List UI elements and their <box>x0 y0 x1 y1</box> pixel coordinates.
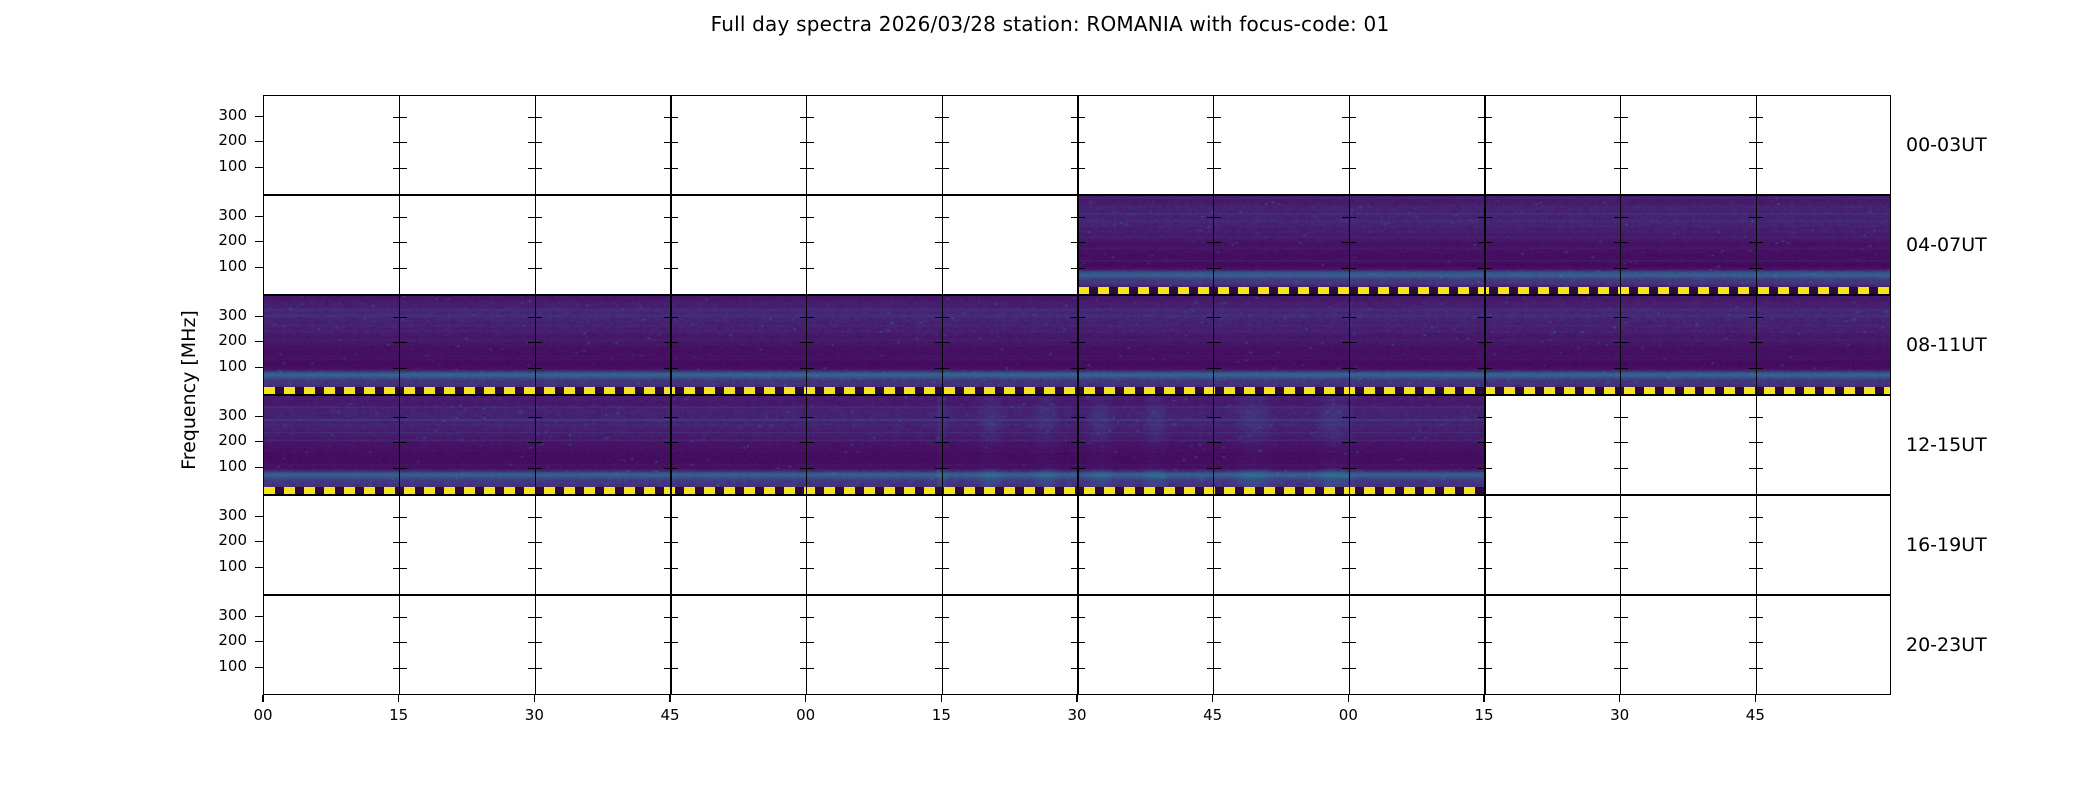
y-minor-tick <box>664 117 671 119</box>
y-minor-tick <box>528 268 535 270</box>
y-axis-tick <box>255 241 263 243</box>
x-axis-tick-label: 15 <box>921 706 961 724</box>
y-minor-tick <box>942 317 949 319</box>
x-axis-tick <box>1619 695 1621 702</box>
panel-separator <box>670 96 672 194</box>
y-axis-tick <box>255 267 263 269</box>
y-minor-tick <box>528 417 535 419</box>
y-minor-tick <box>393 642 400 644</box>
y-minor-tick <box>1078 368 1085 370</box>
y-minor-tick <box>1342 517 1349 519</box>
y-minor-tick <box>528 317 535 319</box>
y-minor-tick <box>1071 442 1078 444</box>
y-minor-tick <box>807 117 814 119</box>
y-minor-tick <box>393 117 400 119</box>
y-minor-tick <box>1071 342 1078 344</box>
y-minor-tick <box>1207 568 1214 570</box>
y-minor-tick <box>1485 668 1492 670</box>
y-minor-tick <box>1756 117 1763 119</box>
y-minor-tick <box>1756 417 1763 419</box>
y-minor-tick <box>1749 642 1756 644</box>
y-axis-tick <box>255 141 263 143</box>
y-minor-tick <box>1349 242 1356 244</box>
spectrogram-row-00-03ut[interactable] <box>263 95 1891 195</box>
panel-separator <box>942 96 944 194</box>
y-minor-tick <box>1342 217 1349 219</box>
y-minor-tick <box>528 668 535 670</box>
y-axis-tick-label: 100 <box>187 559 247 574</box>
row-plot-area <box>264 396 1890 494</box>
y-minor-tick <box>671 342 678 344</box>
y-minor-tick <box>1485 342 1492 344</box>
y-axis-tick <box>255 467 263 469</box>
y-minor-tick <box>1621 242 1628 244</box>
panel-separator <box>1756 496 1758 594</box>
y-minor-tick <box>1478 468 1485 470</box>
y-minor-tick <box>935 242 942 244</box>
panel-separator <box>1756 396 1758 494</box>
y-minor-tick <box>1621 342 1628 344</box>
row-plot-area <box>264 96 1890 194</box>
y-minor-tick <box>942 417 949 419</box>
y-minor-tick <box>1614 117 1621 119</box>
y-minor-tick <box>1621 368 1628 370</box>
panel-separator <box>535 96 537 194</box>
panel-separator <box>1756 196 1758 294</box>
y-minor-tick <box>1342 268 1349 270</box>
y-axis-tick-label: 100 <box>187 359 247 374</box>
spectrogram-row-12-15ut[interactable] <box>263 395 1891 495</box>
y-minor-tick <box>935 142 942 144</box>
y-minor-tick <box>393 617 400 619</box>
y-minor-tick <box>1214 542 1221 544</box>
y-minor-tick <box>671 117 678 119</box>
panel-separator <box>535 596 537 694</box>
y-minor-tick <box>1478 342 1485 344</box>
y-minor-tick <box>393 317 400 319</box>
y-minor-tick <box>800 642 807 644</box>
y-minor-tick <box>1078 568 1085 570</box>
y-minor-tick <box>1342 542 1349 544</box>
y-minor-tick <box>393 368 400 370</box>
panel-separator <box>1620 596 1622 694</box>
y-minor-tick <box>1756 368 1763 370</box>
y-minor-tick <box>935 617 942 619</box>
y-minor-tick <box>1749 117 1756 119</box>
y-minor-tick <box>528 368 535 370</box>
y-minor-tick <box>1071 617 1078 619</box>
y-minor-tick <box>1756 468 1763 470</box>
spectrogram-row-04-07ut[interactable] <box>263 195 1891 295</box>
y-minor-tick <box>935 442 942 444</box>
y-minor-tick <box>942 368 949 370</box>
y-minor-tick <box>1071 317 1078 319</box>
y-minor-tick <box>1342 368 1349 370</box>
x-axis-tick <box>1212 695 1214 702</box>
y-minor-tick <box>1214 242 1221 244</box>
y-minor-tick <box>807 642 814 644</box>
y-minor-tick <box>1207 668 1214 670</box>
y-minor-tick <box>800 242 807 244</box>
y-minor-tick <box>1078 668 1085 670</box>
panel-separator <box>399 296 401 394</box>
y-minor-tick <box>1214 368 1221 370</box>
y-minor-tick <box>1749 242 1756 244</box>
row-plot-area <box>264 596 1890 694</box>
panel-separator <box>399 96 401 194</box>
spectrogram-row-08-11ut[interactable] <box>263 295 1891 395</box>
y-minor-tick <box>664 617 671 619</box>
y-axis-tick-label: 200 <box>187 633 247 648</box>
y-minor-tick <box>393 417 400 419</box>
y-minor-tick <box>1749 668 1756 670</box>
x-axis-tick-label: 00 <box>243 706 283 724</box>
y-minor-tick <box>1749 268 1756 270</box>
y-minor-tick <box>1478 442 1485 444</box>
y-minor-tick <box>1342 342 1349 344</box>
y-minor-tick <box>535 417 542 419</box>
y-minor-tick <box>1485 317 1492 319</box>
y-minor-tick <box>1749 217 1756 219</box>
y-minor-tick <box>1078 268 1085 270</box>
y-minor-tick <box>807 342 814 344</box>
y-minor-tick <box>400 568 407 570</box>
y-minor-tick <box>942 217 949 219</box>
y-minor-tick <box>664 442 671 444</box>
y-minor-tick <box>1621 568 1628 570</box>
y-minor-tick <box>942 542 949 544</box>
x-axis-tick <box>398 695 400 702</box>
y-minor-tick <box>400 317 407 319</box>
y-minor-tick <box>664 568 671 570</box>
y-minor-tick <box>1349 368 1356 370</box>
y-minor-tick <box>942 668 949 670</box>
y-minor-tick <box>1749 368 1756 370</box>
y-minor-tick <box>800 142 807 144</box>
y-minor-tick <box>1078 168 1085 170</box>
y-minor-tick <box>1749 168 1756 170</box>
y-minor-tick <box>935 668 942 670</box>
y-minor-tick <box>528 568 535 570</box>
panel-separator <box>1349 596 1351 694</box>
panel-separator <box>399 496 401 594</box>
row-time-label: 12-15UT <box>1906 434 1987 456</box>
y-minor-tick <box>807 142 814 144</box>
panel-separator <box>1077 396 1079 494</box>
y-minor-tick <box>393 268 400 270</box>
y-minor-tick <box>1485 242 1492 244</box>
y-minor-tick <box>1207 517 1214 519</box>
spectrogram-row-20-23ut[interactable] <box>263 595 1891 695</box>
y-minor-tick <box>1478 168 1485 170</box>
panel-separator <box>1484 596 1486 694</box>
y-minor-tick <box>1214 517 1221 519</box>
y-minor-tick <box>1349 642 1356 644</box>
y-minor-tick <box>393 468 400 470</box>
panel-separator <box>1077 296 1079 394</box>
y-minor-tick <box>1756 168 1763 170</box>
y-minor-tick <box>400 268 407 270</box>
x-axis-tick <box>669 695 671 702</box>
y-minor-tick <box>1342 142 1349 144</box>
y-minor-tick <box>1749 342 1756 344</box>
panel-separator <box>806 496 808 594</box>
y-axis-tick <box>255 567 263 569</box>
y-minor-tick <box>535 642 542 644</box>
y-minor-tick <box>664 168 671 170</box>
y-minor-tick <box>1214 468 1221 470</box>
x-axis-tick-label: 15 <box>379 706 419 724</box>
y-minor-tick <box>400 642 407 644</box>
y-minor-tick <box>1485 468 1492 470</box>
y-minor-tick <box>1342 417 1349 419</box>
y-minor-tick <box>535 468 542 470</box>
y-minor-tick <box>1749 617 1756 619</box>
row-plot-area <box>264 496 1890 594</box>
y-minor-tick <box>1078 468 1085 470</box>
y-minor-tick <box>664 668 671 670</box>
y-minor-tick <box>664 468 671 470</box>
y-minor-tick <box>1621 642 1628 644</box>
y-minor-tick <box>1756 217 1763 219</box>
y-minor-tick <box>671 217 678 219</box>
y-minor-tick <box>807 517 814 519</box>
panel-separator <box>806 396 808 494</box>
panel-separator <box>1484 196 1486 294</box>
y-minor-tick <box>1214 642 1221 644</box>
panel-separator <box>1620 96 1622 194</box>
y-minor-tick <box>1349 268 1356 270</box>
y-minor-tick <box>1485 442 1492 444</box>
y-minor-tick <box>1621 442 1628 444</box>
y-minor-tick <box>528 117 535 119</box>
y-minor-tick <box>1614 442 1621 444</box>
panel-separator <box>1349 196 1351 294</box>
y-minor-tick <box>528 617 535 619</box>
y-minor-tick <box>528 442 535 444</box>
panel-separator <box>1620 296 1622 394</box>
y-minor-tick <box>807 317 814 319</box>
y-minor-tick <box>807 468 814 470</box>
y-minor-tick <box>671 668 678 670</box>
y-minor-tick <box>1621 468 1628 470</box>
y-minor-tick <box>1342 317 1349 319</box>
y-minor-tick <box>942 568 949 570</box>
panel-separator <box>1349 296 1351 394</box>
x-axis-tick <box>1076 695 1078 702</box>
panel-separator <box>1077 596 1079 694</box>
y-minor-tick <box>393 542 400 544</box>
y-minor-tick <box>800 668 807 670</box>
y-minor-tick <box>1478 242 1485 244</box>
y-minor-tick <box>671 142 678 144</box>
y-minor-tick <box>664 417 671 419</box>
y-minor-tick <box>800 168 807 170</box>
y-minor-tick <box>528 642 535 644</box>
y-minor-tick <box>1614 568 1621 570</box>
panel-separator <box>1756 296 1758 394</box>
y-minor-tick <box>1207 368 1214 370</box>
y-minor-tick <box>1349 542 1356 544</box>
y-minor-tick <box>1621 517 1628 519</box>
panel-separator <box>535 496 537 594</box>
y-minor-tick <box>400 468 407 470</box>
y-minor-tick <box>800 517 807 519</box>
y-minor-tick <box>1349 517 1356 519</box>
y-minor-tick <box>393 442 400 444</box>
y-minor-tick <box>1485 542 1492 544</box>
y-minor-tick <box>1478 217 1485 219</box>
y-minor-tick <box>1342 568 1349 570</box>
y-minor-tick <box>935 542 942 544</box>
y-minor-tick <box>1478 517 1485 519</box>
row-plot-area <box>264 196 1890 294</box>
x-axis-tick-label: 00 <box>1328 706 1368 724</box>
panel-separator <box>670 596 672 694</box>
y-minor-tick <box>1478 417 1485 419</box>
spectrogram-figure: Full day spectra 2026/03/28 station: ROM… <box>0 0 2100 800</box>
y-minor-tick <box>1756 242 1763 244</box>
y-axis-tick-label: 200 <box>187 333 247 348</box>
y-minor-tick <box>1349 142 1356 144</box>
x-axis-tick-label: 45 <box>1193 706 1233 724</box>
y-axis-tick-label: 300 <box>187 608 247 623</box>
panel-separator <box>1213 396 1215 494</box>
y-minor-tick <box>400 117 407 119</box>
spectrogram-image <box>264 396 1485 494</box>
x-axis-tick <box>1755 695 1757 702</box>
y-minor-tick <box>1342 617 1349 619</box>
y-minor-tick <box>807 217 814 219</box>
y-axis-tick-label: 100 <box>187 259 247 274</box>
y-minor-tick <box>807 668 814 670</box>
y-minor-tick <box>807 617 814 619</box>
y-minor-tick <box>535 542 542 544</box>
y-minor-tick <box>1749 442 1756 444</box>
y-minor-tick <box>935 268 942 270</box>
y-minor-tick <box>800 368 807 370</box>
y-axis-tick-label: 200 <box>187 133 247 148</box>
y-minor-tick <box>1071 217 1078 219</box>
y-minor-tick <box>807 268 814 270</box>
y-minor-tick <box>1342 168 1349 170</box>
y-minor-tick <box>671 517 678 519</box>
y-minor-tick <box>1478 142 1485 144</box>
y-minor-tick <box>535 268 542 270</box>
y-minor-tick <box>935 168 942 170</box>
y-minor-tick <box>1756 442 1763 444</box>
y-minor-tick <box>1621 142 1628 144</box>
y-minor-tick <box>935 342 942 344</box>
y-minor-tick <box>671 317 678 319</box>
panel-separator <box>806 96 808 194</box>
y-minor-tick <box>1214 117 1221 119</box>
y-minor-tick <box>800 317 807 319</box>
y-minor-tick <box>1749 417 1756 419</box>
y-minor-tick <box>942 642 949 644</box>
y-minor-tick <box>1214 142 1221 144</box>
y-minor-tick <box>1756 142 1763 144</box>
y-minor-tick <box>935 217 942 219</box>
y-minor-tick <box>528 168 535 170</box>
y-minor-tick <box>1071 268 1078 270</box>
y-minor-tick <box>1214 268 1221 270</box>
y-minor-tick <box>1749 317 1756 319</box>
y-minor-tick <box>1207 168 1214 170</box>
panel-separator <box>399 396 401 494</box>
y-minor-tick <box>942 342 949 344</box>
y-minor-tick <box>1078 342 1085 344</box>
y-minor-tick <box>1614 468 1621 470</box>
spectrogram-row-16-19ut[interactable] <box>263 495 1891 595</box>
y-minor-tick <box>400 417 407 419</box>
panel-separator <box>1077 96 1079 194</box>
y-minor-tick <box>1756 617 1763 619</box>
x-axis-tick <box>262 695 264 702</box>
y-minor-tick <box>400 242 407 244</box>
x-axis-tick <box>534 695 536 702</box>
y-minor-tick <box>1349 668 1356 670</box>
y-minor-tick <box>1485 642 1492 644</box>
panel-separator <box>942 296 944 394</box>
y-minor-tick <box>1349 217 1356 219</box>
y-minor-tick <box>1485 268 1492 270</box>
y-minor-tick <box>1749 568 1756 570</box>
y-minor-tick <box>1614 168 1621 170</box>
y-minor-tick <box>1207 417 1214 419</box>
y-minor-tick <box>1214 568 1221 570</box>
x-axis-tick-label: 45 <box>650 706 690 724</box>
y-minor-tick <box>1478 668 1485 670</box>
y-axis-tick <box>255 341 263 343</box>
y-minor-tick <box>807 542 814 544</box>
y-minor-tick <box>1621 217 1628 219</box>
row-time-label: 08-11UT <box>1906 334 1987 356</box>
y-minor-tick <box>1478 542 1485 544</box>
row-time-label: 20-23UT <box>1906 634 1987 656</box>
y-minor-tick <box>1614 642 1621 644</box>
y-minor-tick <box>1614 668 1621 670</box>
y-minor-tick <box>400 368 407 370</box>
y-minor-tick <box>400 168 407 170</box>
page-title: Full day spectra 2026/03/28 station: ROM… <box>0 12 2100 36</box>
y-minor-tick <box>1756 517 1763 519</box>
x-axis-tick-label: 00 <box>786 706 826 724</box>
panel-separator <box>1484 296 1486 394</box>
y-minor-tick <box>1478 268 1485 270</box>
x-axis-tick <box>1348 695 1350 702</box>
x-axis-tick <box>805 695 807 702</box>
y-minor-tick <box>1485 117 1492 119</box>
y-minor-tick <box>393 217 400 219</box>
y-minor-tick <box>1078 117 1085 119</box>
y-axis-tick-label: 100 <box>187 659 247 674</box>
y-minor-tick <box>1621 168 1628 170</box>
y-minor-tick <box>800 417 807 419</box>
y-minor-tick <box>528 542 535 544</box>
y-minor-tick <box>671 468 678 470</box>
y-minor-tick <box>1342 468 1349 470</box>
y-minor-tick <box>807 417 814 419</box>
y-minor-tick <box>535 317 542 319</box>
y-minor-tick <box>1485 217 1492 219</box>
y-minor-tick <box>1207 468 1214 470</box>
y-minor-tick <box>1342 242 1349 244</box>
y-minor-tick <box>664 268 671 270</box>
y-minor-tick <box>1749 142 1756 144</box>
y-minor-tick <box>1485 617 1492 619</box>
y-minor-tick <box>1214 317 1221 319</box>
